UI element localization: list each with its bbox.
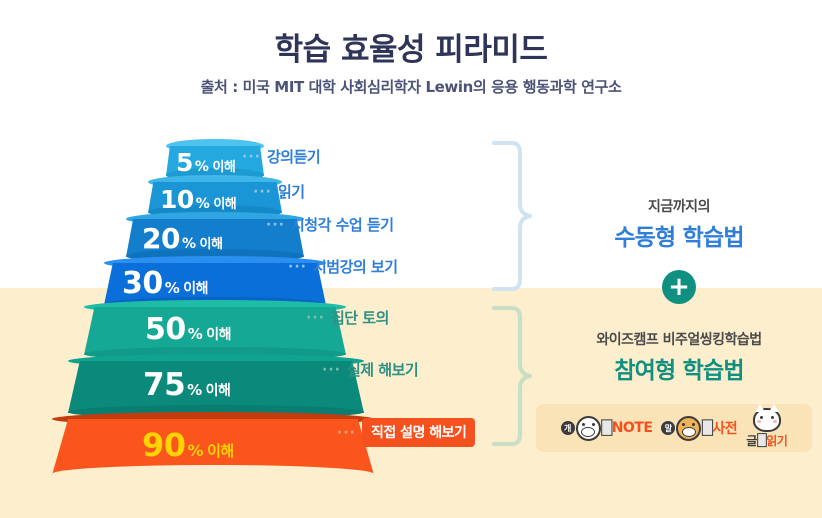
pyramid-item-7-badge: 직접 설명 해보기	[362, 418, 475, 447]
pyramid-item-5: ··· 집단 토의	[306, 307, 389, 328]
dots-icon: ···	[253, 184, 272, 200]
dots-icon: ···	[306, 310, 325, 326]
logo-horse-dictionary-word: 사전	[712, 418, 737, 438]
pyramid-item-2-label: 읽기	[278, 181, 305, 202]
layer-1-value: 5 % 이해	[176, 150, 235, 175]
layer-6-percent-sign: %	[187, 381, 202, 399]
dots-icon: ···	[266, 217, 285, 233]
dots-icon: ···	[337, 425, 356, 441]
pyramid-item-4-label: 시범강의 보기	[313, 256, 398, 277]
layer-5-percent-sign: %	[188, 325, 203, 343]
layer-1-unit: 이해	[212, 156, 235, 175]
pyramid-item-5-label: 집단 토의	[331, 307, 389, 328]
pyramid-item-6-label: 실제 해보기	[347, 359, 418, 380]
pyramid-item-7: ··· 직접 설명 해보기	[337, 418, 475, 447]
passive-eyebrow: 지금까지의	[539, 196, 819, 216]
bone-icon: █	[602, 421, 611, 436]
passive-heading: 수동형 학습법	[539, 218, 819, 252]
layer-5-percent: 50	[145, 315, 186, 345]
layer-2-percent-sign: %	[196, 196, 210, 212]
layer-4-percent-sign: %	[165, 279, 180, 297]
layer-4-percent: 30	[122, 269, 163, 299]
logo-horse-dictionary[interactable]: 말 █ 사전	[661, 416, 737, 441]
layer-4-value: 30 % 이해	[122, 269, 208, 299]
horse-tag-label: 말	[661, 421, 675, 435]
logo-dog-note-word: NOTE	[612, 420, 653, 436]
layer-5-unit: 이해	[206, 324, 231, 344]
bone-icon: █	[758, 434, 765, 447]
layer-2-percent: 10	[160, 187, 194, 212]
pyramid-item-4: ··· 시범강의 보기	[288, 256, 398, 277]
dog-face-icon	[576, 416, 601, 441]
layer-2-value: 10 % 이해	[160, 187, 236, 212]
layer-2-unit: 이해	[213, 193, 236, 212]
pyramid-item-2: ··· 읽기	[253, 181, 305, 202]
layer-3-percent: 20	[142, 225, 180, 253]
logo-cat-left-char: 글	[746, 432, 757, 449]
layer-6-value: 75 % 이해	[143, 370, 230, 401]
layer-1-percent: 5	[176, 150, 193, 175]
layer-7-percent: 90	[142, 429, 186, 461]
layer-7-percent-sign: %	[188, 441, 204, 460]
layer-3-percent-sign: %	[182, 236, 196, 252]
pyramid-item-1: ··· 강의듣기	[242, 146, 320, 167]
brand-logo-strip: 개 █ NOTE 말 █ 사전 글 █ 읽기	[536, 404, 812, 452]
layer-7-foot	[52, 465, 374, 483]
brace-passive	[486, 140, 546, 292]
dog-tag-label: 개	[561, 421, 575, 435]
layer-1-percent-sign: %	[195, 159, 209, 175]
layer-7-value: 90 % 이해	[142, 429, 234, 461]
pyramid-item-3: ··· 시청각 수업 듣기	[266, 214, 394, 235]
logo-cat-reading[interactable]: 글 █ 읽기	[746, 408, 787, 449]
plus-icon: +	[662, 270, 696, 304]
layer-6-percent: 75	[143, 370, 185, 401]
dots-icon: ···	[288, 259, 307, 275]
pyramid-item-6: ··· 실제 해보기	[322, 359, 418, 380]
pyramid-item-3-label: 시청각 수업 듣기	[291, 214, 394, 235]
horse-face-icon	[676, 416, 701, 441]
active-eyebrow: 와이즈캠프 비주얼씽킹학습법	[539, 329, 819, 349]
dots-icon: ···	[242, 149, 261, 165]
dots-icon: ···	[322, 362, 341, 378]
logo-dog-note[interactable]: 개 █ NOTE	[561, 416, 653, 441]
pyramid-item-1-label: 강의듣기	[267, 146, 320, 167]
logo-cat-reading-word: 읽기	[766, 432, 787, 449]
layer-3-value: 20 % 이해	[142, 225, 222, 253]
layer-7-unit: 이해	[207, 440, 234, 461]
cat-face-icon	[753, 408, 781, 432]
layer-6-unit: 이해	[206, 380, 231, 400]
bone-icon: █	[702, 421, 711, 436]
infographic-canvas: 학습 효율성 피라미드 출처 : 미국 MIT 대학 사회심리학자 Lewin의…	[0, 0, 822, 518]
layer-3-unit: 이해	[200, 233, 223, 252]
layer-5-value: 50 % 이해	[145, 315, 231, 345]
active-heading: 참여형 학습법	[539, 351, 819, 385]
layer-4-unit: 이해	[183, 278, 208, 298]
